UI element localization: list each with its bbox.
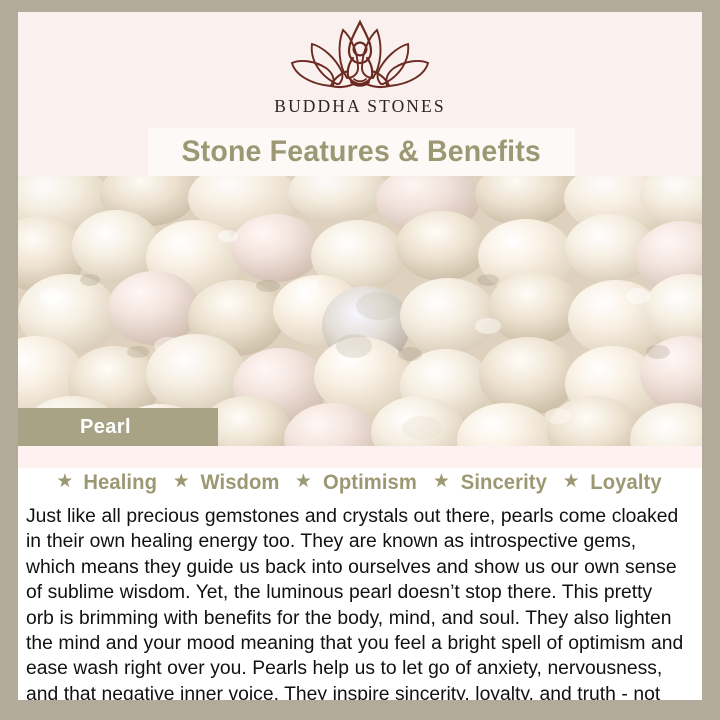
- star-icon: ★: [563, 472, 580, 491]
- benefit-item-healing: ★ Healing: [56, 470, 159, 495]
- stone-name: Pearl: [80, 416, 131, 439]
- benefit-label: Loyalty: [590, 470, 661, 495]
- section-title-banner: Stone Features & Benefits: [148, 128, 575, 176]
- star-icon: ★: [56, 472, 73, 491]
- content-card: BUDDHA STONES Stone Features & Benefits: [18, 12, 702, 700]
- benefit-label: Sincerity: [461, 470, 547, 495]
- description-section: ★ Healing ★ Wisdom ★ Optimism ★ Sincerit…: [18, 446, 702, 700]
- star-icon: ★: [173, 472, 190, 491]
- page-root: BUDDHA STONES Stone Features & Benefits: [0, 0, 720, 720]
- content-top-wash: [18, 446, 702, 468]
- star-icon: ★: [433, 472, 450, 491]
- benefit-label: Healing: [84, 470, 158, 495]
- stone-photo: [18, 176, 702, 446]
- brand-header: BUDDHA STONES: [18, 12, 702, 132]
- star-icon: ★: [295, 472, 312, 491]
- lotus-meditation-icon: [285, 18, 435, 92]
- benefit-label: Wisdom: [200, 470, 279, 495]
- description-paragraph: Just like all precious gemstones and cry…: [26, 504, 684, 700]
- benefit-item-wisdom: ★ Wisdom: [173, 470, 282, 495]
- page-title: Stone Features & Benefits: [182, 135, 542, 169]
- brand-name: BUDDHA STONES: [274, 96, 445, 117]
- benefit-label: Optimism: [323, 470, 417, 495]
- benefit-item-sincerity: ★ Sincerity: [433, 470, 550, 495]
- benefit-item-loyalty: ★ Loyalty: [563, 470, 664, 495]
- pearl-photo-graphic: [18, 176, 702, 446]
- benefits-row: ★ Healing ★ Wisdom ★ Optimism ★ Sincerit…: [18, 470, 702, 495]
- benefit-item-optimism: ★ Optimism: [295, 470, 420, 495]
- stone-name-band: Pearl: [18, 408, 218, 446]
